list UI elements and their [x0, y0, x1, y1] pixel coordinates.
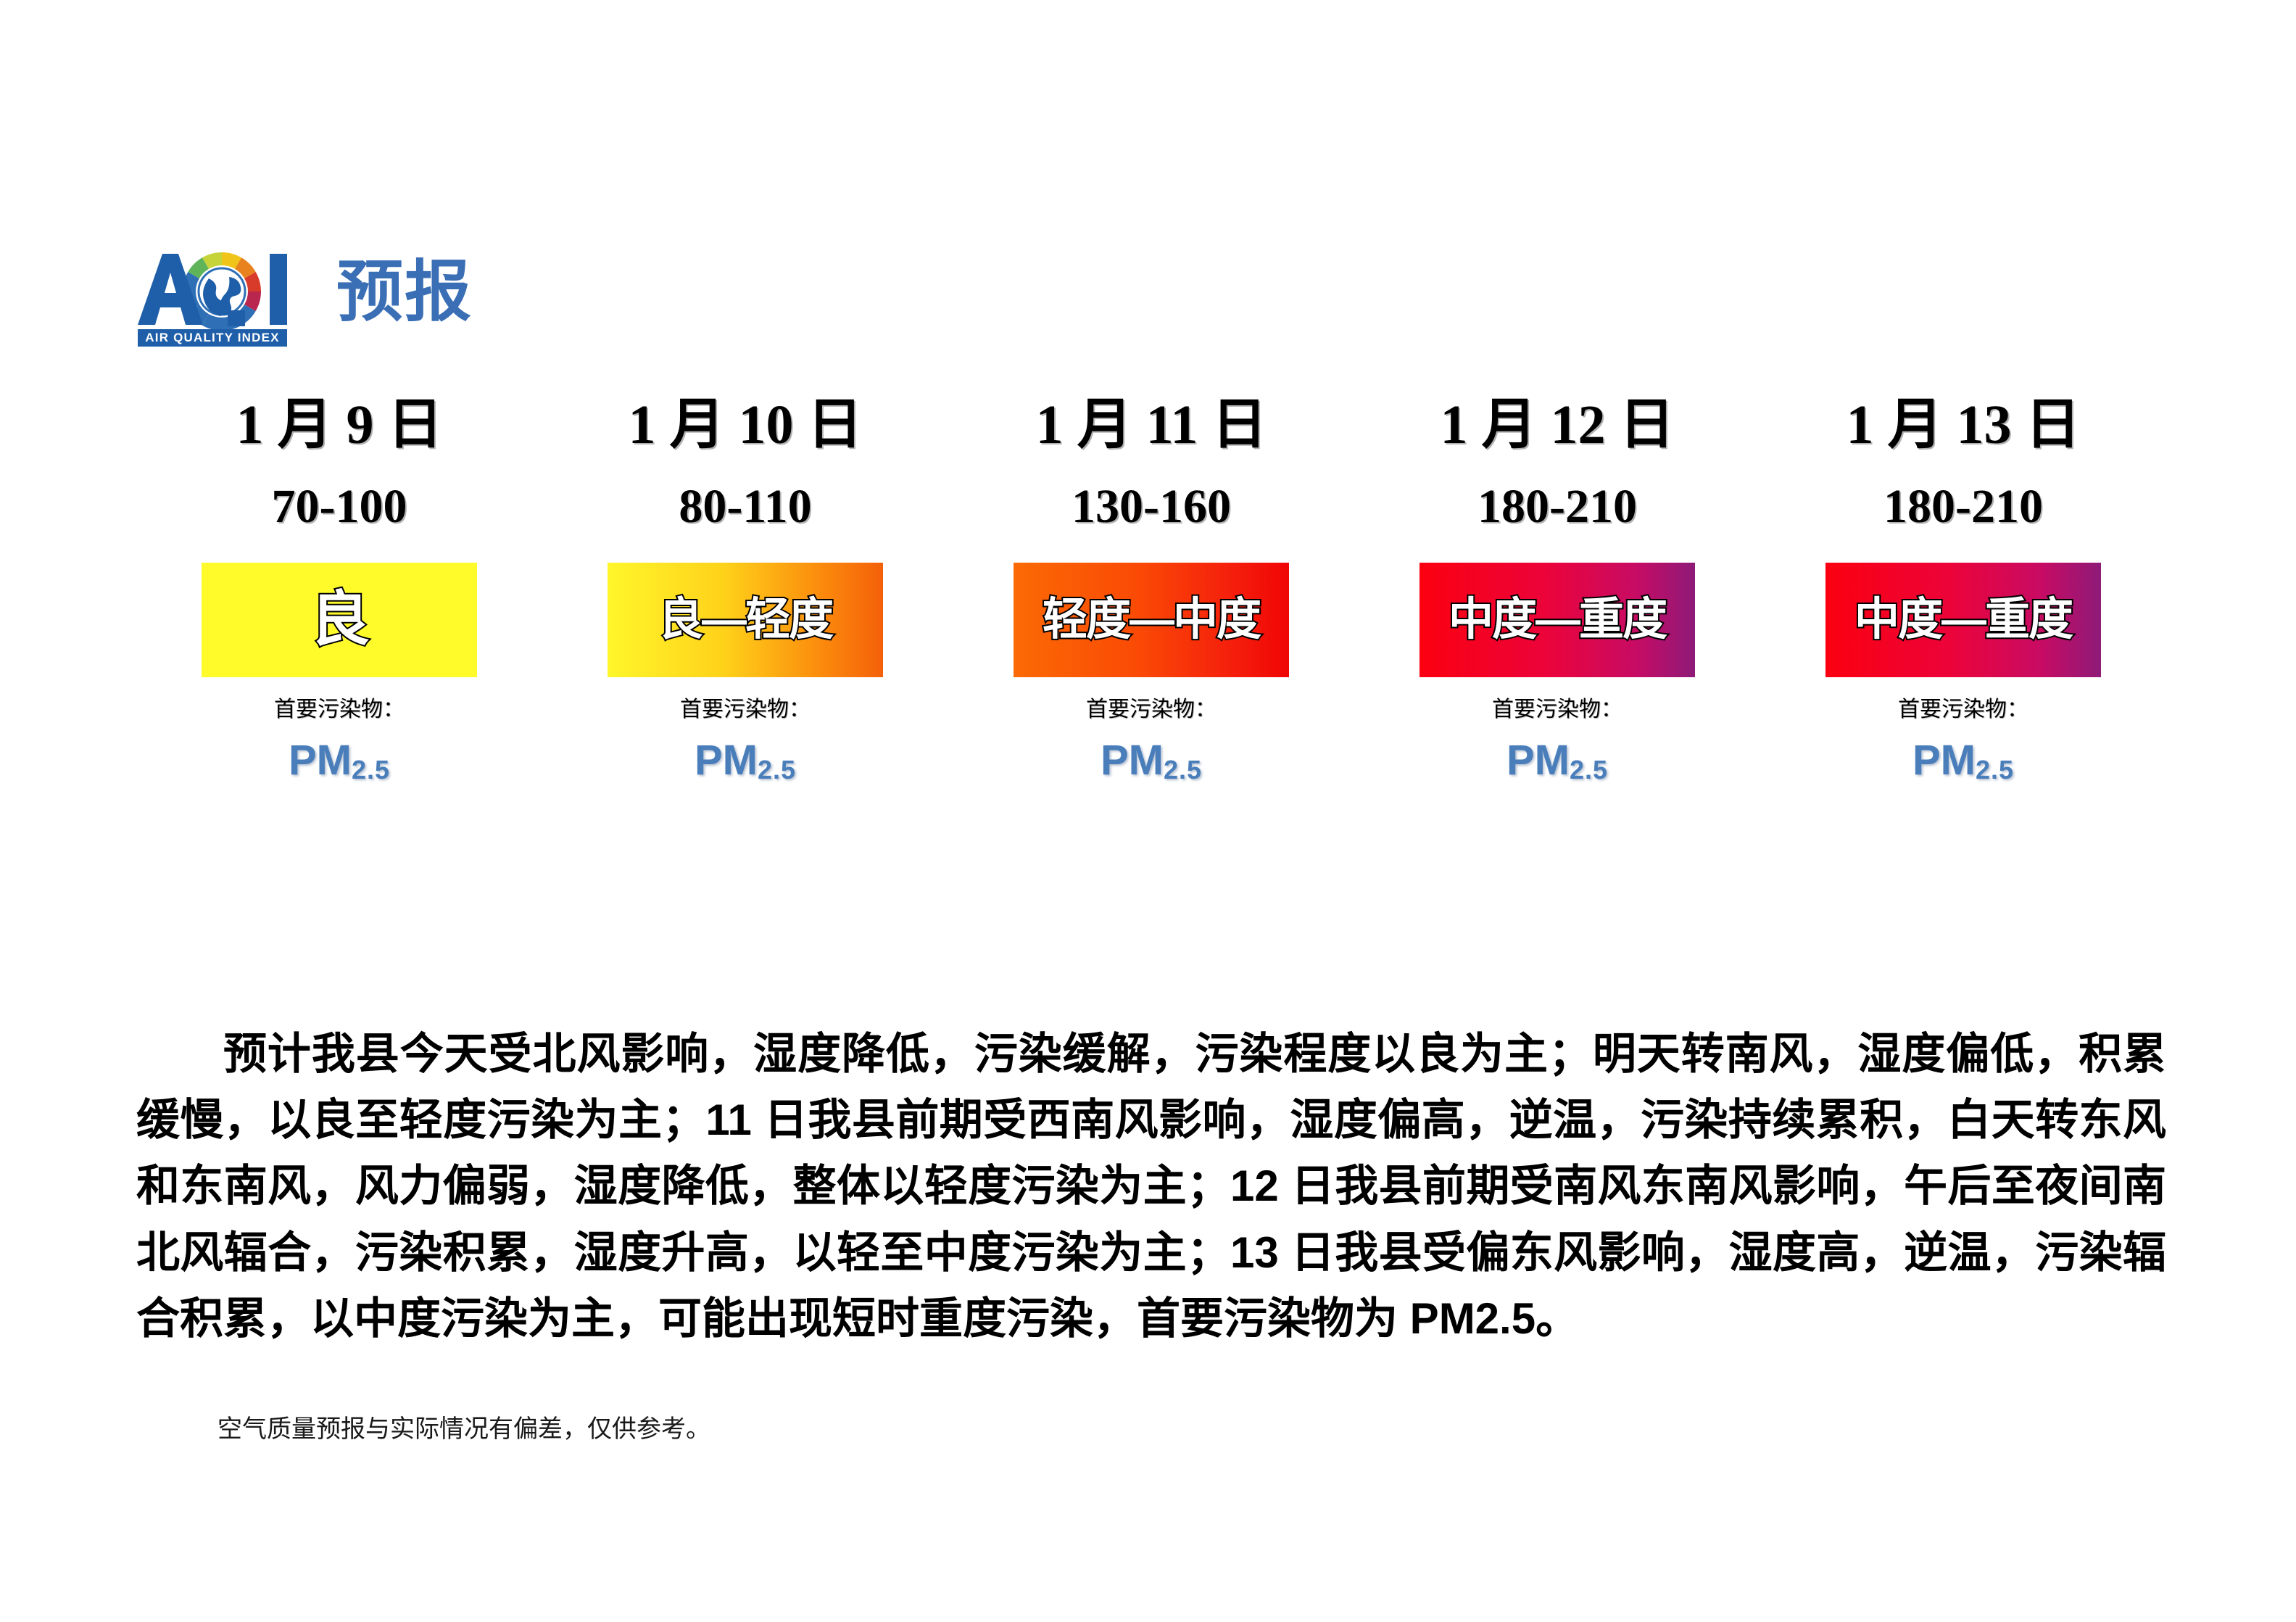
aqi-level-badge: 中度—重度: [1825, 563, 2101, 677]
pollutant-main: PM: [1912, 737, 1976, 784]
forecast-summary-paragraph: 预计我县今天受北风影响，湿度降低，污染缓解，污染程度以良为主；明天转南风，湿度偏…: [136, 1021, 2166, 1352]
aqi-level-label: 中度—重度: [1449, 597, 1666, 642]
aqi-logo: AIR QUALITY INDEX 预报: [136, 239, 600, 355]
aqi-level-label: 轻度—中度: [1043, 597, 1260, 642]
aqi-range: 180-210: [1883, 483, 2043, 531]
aqi-logo-mark-icon: AIR QUALITY INDEX: [136, 247, 323, 348]
logo-letter-q-tail: [228, 310, 245, 326]
logo-letter-i: [270, 254, 287, 325]
forecast-column-5: 1 月 13 日 180-210 中度—重度 首要污染物： PM2.5: [1760, 397, 2166, 782]
globe-icon: [199, 268, 245, 316]
forecast-date: 1 月 13 日: [1847, 397, 2081, 452]
forecast-columns: 1 月 9 日 70-100 良 首要污染物： PM2.5 1 月 10 日 8…: [136, 397, 2166, 782]
primary-pollutant-value: PM2.5: [695, 740, 796, 782]
forecast-column-2: 1 月 10 日 80-110 良—轻度 首要污染物： PM2.5: [542, 397, 948, 782]
primary-pollutant-label: 首要污染物：: [1492, 699, 1622, 721]
aqi-range: 130-160: [1072, 483, 1231, 531]
primary-pollutant-label: 首要污染物：: [1898, 699, 2028, 721]
logo-forecast-word: 预报: [336, 259, 473, 336]
pollutant-sub: 2.5: [1164, 755, 1202, 785]
forecast-column-4: 1 月 12 日 180-210 中度—重度 首要污染物： PM2.5: [1354, 397, 1760, 782]
primary-pollutant-label: 首要污染物：: [1086, 699, 1217, 721]
pollutant-main: PM: [1507, 737, 1570, 784]
primary-pollutant-value: PM2.5: [1101, 740, 1202, 782]
primary-pollutant-label: 首要污染物：: [680, 699, 811, 721]
aqi-logo-svg: AIR QUALITY INDEX: [136, 247, 323, 348]
logo-subtitle-text: AIR QUALITY INDEX: [145, 331, 279, 344]
primary-pollutant-value: PM2.5: [1507, 740, 1608, 782]
forecast-date: 1 月 11 日: [1036, 397, 1267, 452]
forecast-date: 1 月 12 日: [1441, 397, 1675, 452]
aqi-level-label: 良—轻度: [658, 597, 832, 642]
primary-pollutant-value: PM2.5: [1912, 740, 2014, 782]
aqi-level-label: 良: [310, 590, 368, 650]
aqi-forecast-page: AIR QUALITY INDEX 预报 1 月 9 日 70-100 良 首要…: [0, 0, 2296, 1622]
pollutant-sub: 2.5: [1570, 755, 1608, 785]
forecast-date: 1 月 9 日: [236, 397, 443, 452]
primary-pollutant-label: 首要污染物：: [274, 699, 405, 721]
aqi-level-badge: 良: [202, 563, 477, 677]
forecast-date: 1 月 10 日: [629, 397, 863, 452]
forecast-column-3: 1 月 11 日 130-160 轻度—中度 首要污染物： PM2.5: [948, 397, 1354, 782]
pollutant-main: PM: [695, 737, 758, 784]
aqi-range: 70-100: [272, 483, 407, 531]
aqi-level-badge: 中度—重度: [1420, 563, 1695, 677]
primary-pollutant-value: PM2.5: [289, 740, 390, 782]
disclaimer-note: 空气质量预报与实际情况有偏差，仅供参考。: [217, 1418, 710, 1442]
pollutant-sub: 2.5: [352, 755, 390, 785]
aqi-range: 180-210: [1478, 483, 1637, 531]
aqi-level-badge: 轻度—中度: [1014, 563, 1289, 677]
aqi-level-label: 中度—重度: [1854, 597, 2072, 642]
pollutant-sub: 2.5: [758, 755, 796, 785]
pollutant-main: PM: [1101, 737, 1164, 784]
pollutant-sub: 2.5: [1976, 755, 2014, 785]
aqi-level-badge: 良—轻度: [608, 563, 883, 677]
aqi-range: 80-110: [679, 483, 811, 531]
forecast-column-1: 1 月 9 日 70-100 良 首要污染物： PM2.5: [136, 397, 542, 782]
pollutant-main: PM: [289, 737, 352, 784]
